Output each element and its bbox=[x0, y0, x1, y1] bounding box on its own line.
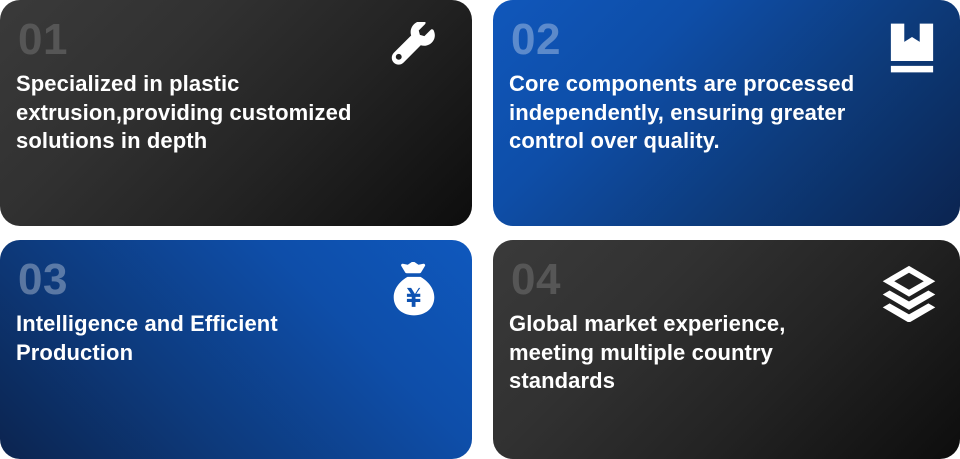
card-text-01: Specialized in plastic extrusion,providi… bbox=[16, 70, 446, 156]
card-text-03: Intelligence and Efficient Production bbox=[16, 310, 416, 367]
feature-card-03[interactable]: 03 Intelligence and Efficient Production bbox=[0, 240, 472, 459]
card-text-04: Global market experience, meeting multip… bbox=[509, 310, 938, 396]
card-number-03: 03 bbox=[18, 258, 450, 302]
card-number-01: 01 bbox=[18, 18, 450, 62]
feature-card-01[interactable]: 01 Specialized in plastic extrusion,prov… bbox=[0, 0, 472, 226]
feature-card-04[interactable]: 04 Global market experience, meeting mul… bbox=[493, 240, 960, 459]
card-number-04: 04 bbox=[511, 258, 938, 302]
feature-card-grid: 01 Specialized in plastic extrusion,prov… bbox=[0, 0, 960, 459]
card-number-02: 02 bbox=[511, 18, 938, 62]
card-text-02: Core components are processed independen… bbox=[509, 70, 938, 156]
feature-card-02[interactable]: 02 Core components are processed indepen… bbox=[493, 0, 960, 226]
